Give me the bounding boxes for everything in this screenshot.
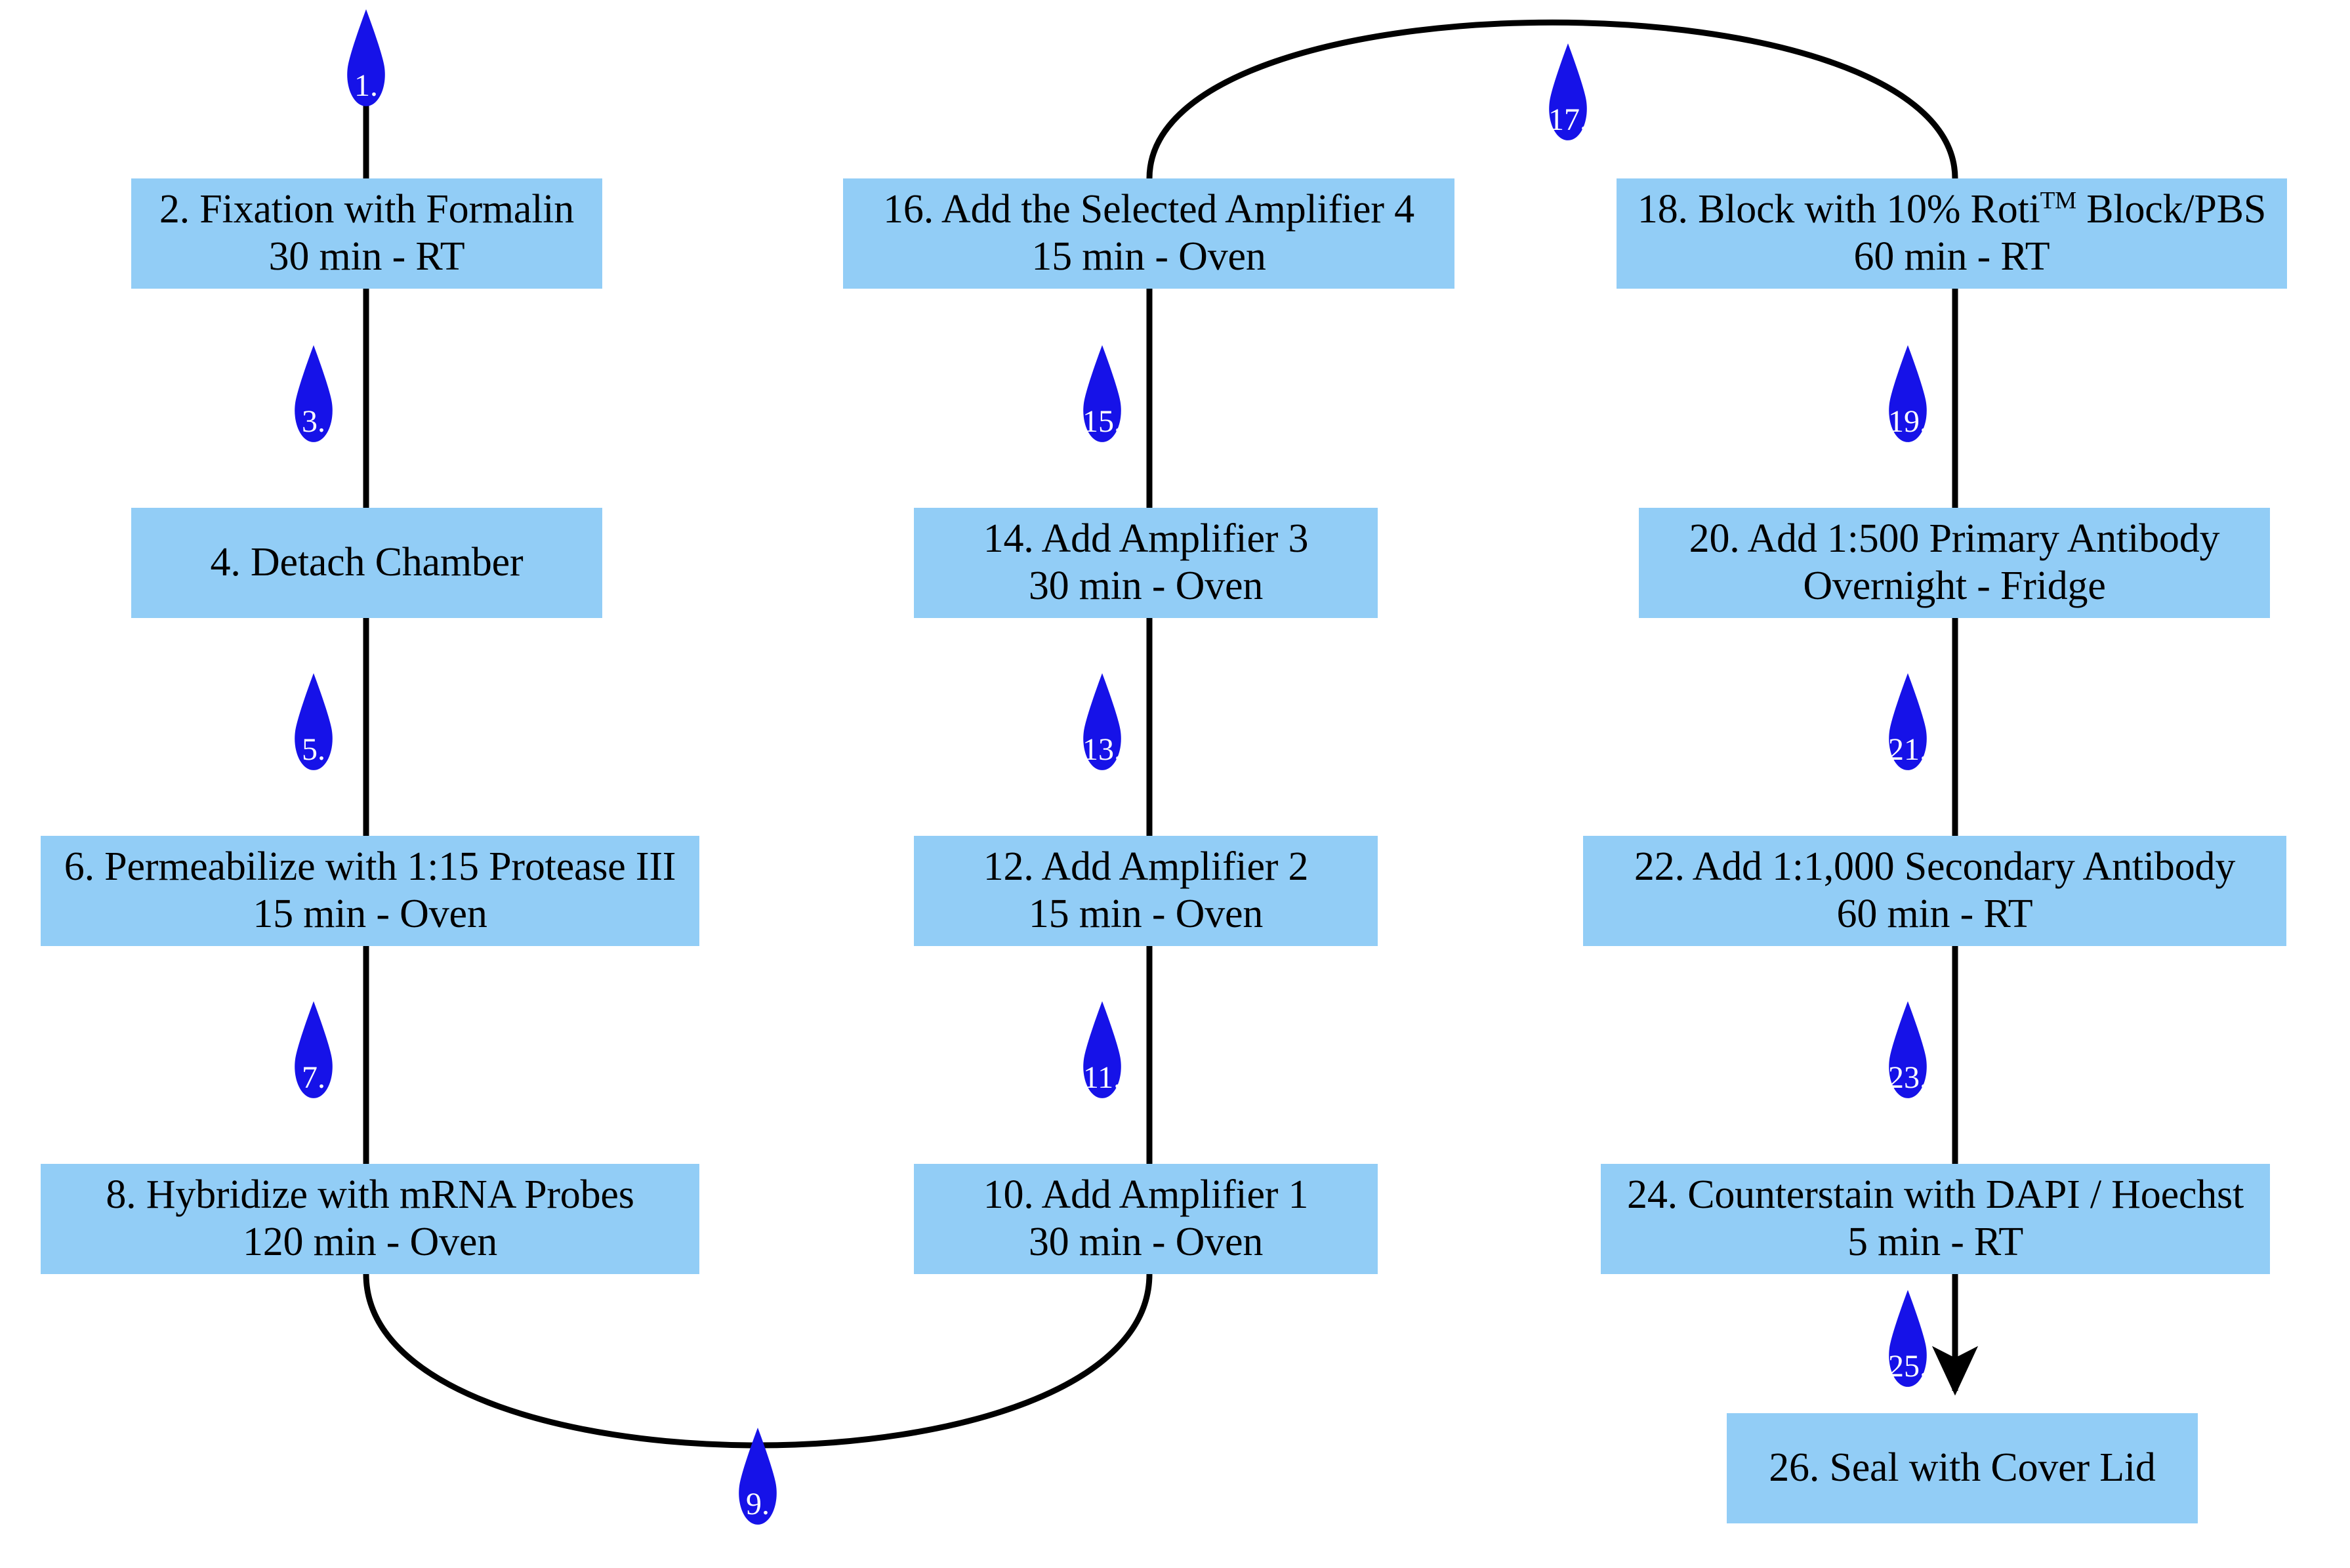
droplet-marker[interactable]: 1.: [339, 9, 394, 106]
step-box[interactable]: 18. Block with 10% RotiTM Block/PBS60 mi…: [1617, 178, 2287, 289]
step-label-primary: 22. Add 1:1,000 Secondary Antibody: [1634, 844, 2235, 891]
step-box[interactable]: 6. Permeabilize with 1:15 Protease III15…: [41, 836, 699, 946]
droplet-marker[interactable]: 11.: [1075, 1001, 1130, 1098]
droplet-shape: [295, 673, 333, 770]
water-drop-icon: [1540, 43, 1596, 140]
droplet-shape: [347, 9, 385, 106]
step-box[interactable]: 10. Add Amplifier 130 min - Oven: [914, 1164, 1378, 1274]
step-label-primary-tail: Block/PBS: [2076, 187, 2266, 232]
step-label-duration: 30 min - Oven: [1029, 563, 1263, 610]
step-label-primary: 2. Fixation with Formalin: [159, 186, 574, 234]
step-label-primary: 14. Add Amplifier 3: [983, 516, 1309, 563]
step-box[interactable]: 24. Counterstain with DAPI / Hoechst5 mi…: [1601, 1164, 2270, 1274]
water-drop-icon: [730, 1428, 785, 1525]
step-box[interactable]: 14. Add Amplifier 330 min - Oven: [914, 508, 1378, 618]
water-drop-icon: [1880, 673, 1935, 770]
droplet-shape: [1889, 1290, 1927, 1387]
step-label-primary: 6. Permeabilize with 1:15 Protease III: [64, 844, 676, 891]
water-drop-icon: [1880, 345, 1935, 442]
droplet-shape: [1889, 345, 1927, 442]
droplet-marker[interactable]: 23.: [1880, 1001, 1935, 1098]
wire-bottom-arc: [366, 1274, 1149, 1445]
step-label-duration: 5 min - RT: [1847, 1219, 2023, 1266]
water-drop-icon: [1880, 1290, 1935, 1387]
water-drop-icon: [1075, 345, 1130, 442]
droplet-shape: [295, 345, 333, 442]
step-label-primary: 8. Hybridize with mRNA Probes: [106, 1172, 634, 1219]
step-label-duration: 60 min - RT: [1854, 234, 2050, 281]
droplet-marker[interactable]: 3.: [286, 345, 341, 442]
water-drop-icon: [1075, 1001, 1130, 1098]
water-drop-icon: [1075, 673, 1130, 770]
droplet-shape: [1549, 43, 1587, 140]
step-label-primary: 12. Add Amplifier 2: [983, 844, 1309, 891]
droplet-marker[interactable]: 25.: [1880, 1290, 1935, 1387]
step-label-primary: 16. Add the Selected Amplifier 4: [883, 186, 1414, 234]
water-drop-icon: [286, 345, 341, 442]
flowchart-canvas: 2. Fixation with Formalin30 min - RT4. D…: [0, 0, 2350, 1568]
droplet-marker[interactable]: 7.: [286, 1001, 341, 1098]
step-box[interactable]: 22. Add 1:1,000 Secondary Antibody60 min…: [1583, 836, 2286, 946]
step-label-duration: 15 min - Oven: [1031, 234, 1266, 281]
droplet-shape: [1889, 1001, 1927, 1098]
droplet-shape: [1083, 673, 1121, 770]
droplet-shape: [1083, 345, 1121, 442]
droplet-marker[interactable]: 5.: [286, 673, 341, 770]
water-drop-icon: [286, 1001, 341, 1098]
step-box[interactable]: 12. Add Amplifier 215 min - Oven: [914, 836, 1378, 946]
step-label-duration: 60 min - RT: [1837, 891, 2033, 938]
step-box[interactable]: 16. Add the Selected Amplifier 415 min -…: [843, 178, 1454, 289]
droplet-shape: [1889, 673, 1927, 770]
droplet-marker[interactable]: 13.: [1075, 673, 1130, 770]
water-drop-icon: [286, 673, 341, 770]
step-label-primary: 18. Block with 10% RotiTM Block/PBS: [1638, 186, 2266, 234]
step-label-duration: 15 min - Oven: [253, 891, 487, 938]
step-label-duration: Overnight - Fridge: [1803, 563, 2105, 610]
droplet-shape: [1083, 1001, 1121, 1098]
droplet-marker[interactable]: 21.: [1880, 673, 1935, 770]
step-label-duration: 15 min - Oven: [1029, 891, 1263, 938]
step-box[interactable]: 20. Add 1:500 Primary AntibodyOvernight …: [1639, 508, 2270, 618]
droplet-marker[interactable]: 9.: [730, 1428, 785, 1525]
step-label-primary: 24. Counterstain with DAPI / Hoechst: [1627, 1172, 2244, 1219]
droplet-marker[interactable]: 17.: [1540, 43, 1596, 140]
step-label-primary: 26. Seal with Cover Lid: [1769, 1445, 2156, 1492]
step-label-primary: 10. Add Amplifier 1: [983, 1172, 1309, 1219]
droplet-shape: [295, 1001, 333, 1098]
step-label-duration: 30 min - Oven: [1029, 1219, 1263, 1266]
step-label-duration: 30 min - RT: [269, 234, 465, 281]
trademark-superscript: TM: [2040, 187, 2076, 214]
step-label-primary: 4. Detach Chamber: [211, 539, 524, 587]
step-box[interactable]: 4. Detach Chamber: [131, 508, 602, 618]
droplet-marker[interactable]: 15.: [1075, 345, 1130, 442]
step-box[interactable]: 26. Seal with Cover Lid: [1727, 1413, 2198, 1523]
step-box[interactable]: 8. Hybridize with mRNA Probes120 min - O…: [41, 1164, 699, 1274]
water-drop-icon: [339, 9, 394, 106]
droplet-shape: [739, 1428, 777, 1525]
water-drop-icon: [1880, 1001, 1935, 1098]
droplet-marker[interactable]: 19.: [1880, 345, 1935, 442]
step-label-duration: 120 min - Oven: [243, 1219, 497, 1266]
step-label-primary: 20. Add 1:500 Primary Antibody: [1689, 516, 2220, 563]
step-box[interactable]: 2. Fixation with Formalin30 min - RT: [131, 178, 602, 289]
